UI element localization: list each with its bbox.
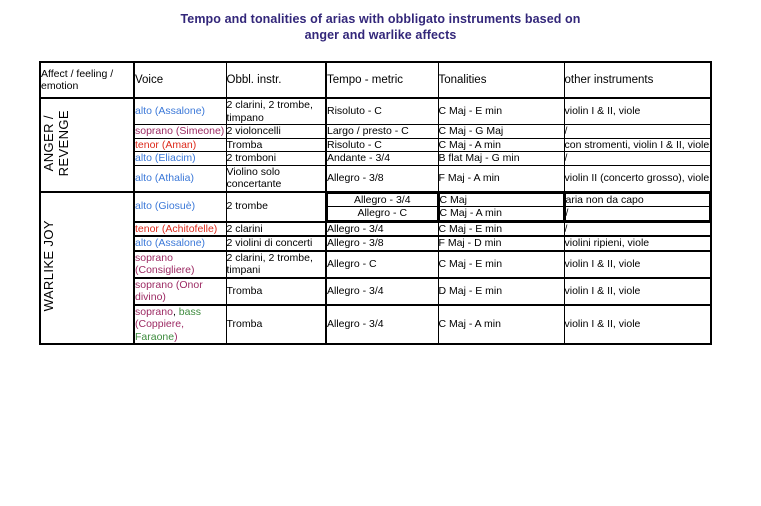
tonalities-cell: C Maj - E min — [438, 222, 564, 237]
voice-part-8: ) — [174, 331, 178, 343]
voice-part-1: tenor (Aman) — [135, 139, 196, 151]
voice-cell: alto (Eliacim) — [134, 152, 226, 166]
other-instruments-cell: / — [564, 125, 711, 139]
tempo-metric-cell: Allegro - 3/4Allegro - C — [326, 192, 438, 222]
other-instruments-cell: / — [564, 152, 711, 166]
other-instruments-cell: violin II (concerto grosso), viole — [564, 165, 711, 192]
obbl-instr-cell: 2 clarini, 2 trombe, timpano — [226, 98, 326, 125]
page-root: Tempo and tonalities of arias with obbli… — [0, 0, 761, 506]
tempo-tonalities-table-wrapper: Affect / feeling / emotion Voice Obbl. i… — [39, 61, 710, 345]
table-row: soprano (Simeone)2 violoncelliLargo / pr… — [40, 125, 711, 139]
obbl-instr-cell: 2 tromboni — [226, 152, 326, 166]
tempo-metric-cell-part-1: Allegro - 3/4 — [328, 193, 438, 207]
voice-cell: alto (Assalone) — [134, 98, 226, 125]
affect-group-text: WARLIKE JOY — [41, 220, 56, 311]
other-instruments-cell: violin I & II, viole — [564, 278, 711, 305]
table-row: tenor (Aman)TrombaRisoluto - CC Maj - A … — [40, 138, 711, 152]
tempo-metric-cell: Allegro - 3/4 — [326, 222, 438, 237]
tempo-metric-cell: Allegro - 3/8 — [326, 165, 438, 192]
page-title: Tempo and tonalities of arias with obbli… — [0, 11, 761, 43]
split-subrow: C Maj - A min — [439, 207, 563, 221]
voice-part-7: Faraone — [135, 331, 174, 343]
table-row: alto (Eliacim)2 tromboniAndante - 3/4B f… — [40, 152, 711, 166]
tonalities-cell: C Maj - G Maj — [438, 125, 564, 139]
tempo-metric-cell-part-2: Allegro - C — [328, 207, 438, 221]
voice-cell: soprano, bass (Coppiere, Faraone) — [134, 305, 226, 345]
other-instruments-cell: aria non da capo/ — [564, 192, 711, 222]
affect-group-text: ANGER / REVENGE — [41, 110, 71, 176]
split-subrow: Allegro - 3/4 — [328, 193, 438, 207]
tempo-metric-cell: Allegro - 3/8 — [326, 236, 438, 251]
split-subtable: C MajC Maj - A min — [439, 193, 564, 221]
voice-part-1: alto (Giosuè) — [135, 200, 195, 212]
other-instruments-cell-part-1: aria non da capo — [565, 193, 710, 207]
voice-part-1: soprano (Consigliere) — [135, 252, 195, 277]
obbl-instr-cell: Tromba — [226, 138, 326, 152]
other-instruments-cell: violin I & II, viole — [564, 251, 711, 278]
voice-part-1: soprano (Simeone) — [135, 125, 224, 137]
obbl-instr-cell: Tromba — [226, 278, 326, 305]
tempo-tonalities-table: Affect / feeling / emotion Voice Obbl. i… — [39, 61, 712, 345]
tempo-metric-cell: Risoluto - C — [326, 138, 438, 152]
other-instruments-cell: violini ripieni, viole — [564, 236, 711, 251]
table-header: Affect / feeling / emotion Voice Obbl. i… — [40, 62, 711, 98]
table-row: soprano (Onor divino)TrombaAllegro - 3/4… — [40, 278, 711, 305]
tempo-metric-cell: Allegro - C — [326, 251, 438, 278]
voice-cell: soprano (Consigliere) — [134, 251, 226, 278]
obbl-instr-cell: 2 clarini, 2 trombe, timpani — [226, 251, 326, 278]
voice-cell: soprano (Simeone) — [134, 125, 226, 139]
tonalities-cell: B flat Maj - G min — [438, 152, 564, 166]
tempo-metric-cell: Andante - 3/4 — [326, 152, 438, 166]
table-row: WARLIKE JOYalto (Giosuè)2 trombeAllegro … — [40, 192, 711, 222]
voice-part-6: , — [181, 318, 184, 330]
other-instruments-cell: con stromenti, violin I & II, viole — [564, 138, 711, 152]
column-header-voice: Voice — [134, 62, 226, 98]
obbl-instr-cell: 2 clarini — [226, 222, 326, 237]
split-subrow: / — [565, 207, 710, 221]
column-header-tonalities: Tonalities — [438, 62, 564, 98]
voice-part-1: alto (Assalone) — [135, 105, 205, 117]
tonalities-cell: D Maj - E min — [438, 278, 564, 305]
column-header-obbl-instr: Obbl. instr. — [226, 62, 326, 98]
split-subrow: aria non da capo — [565, 193, 710, 207]
obbl-instr-cell: Tromba — [226, 305, 326, 345]
other-instruments-cell: violin I & II, viole — [564, 98, 711, 125]
column-header-tempo-metric: Tempo - metric — [326, 62, 438, 98]
table-row: ANGER / REVENGEalto (Assalone)2 clarini,… — [40, 98, 711, 125]
table-row: alto (Assalone)2 violini di concertiAlle… — [40, 236, 711, 251]
tempo-metric-cell: Risoluto - C — [326, 98, 438, 125]
tempo-metric-cell: Largo / presto - C — [326, 125, 438, 139]
tempo-metric-cell: Allegro - 3/4 — [326, 278, 438, 305]
table-row: soprano, bass (Coppiere, Faraone)TrombaA… — [40, 305, 711, 345]
tonalities-cell-part-1: C Maj — [439, 193, 563, 207]
table-row: alto (Athalia)Violino solo concertanteAl… — [40, 165, 711, 192]
tonalities-cell: C Maj - A min — [438, 138, 564, 152]
split-subtable: Allegro - 3/4Allegro - C — [327, 193, 438, 221]
table-row: soprano (Consigliere)2 clarini, 2 trombe… — [40, 251, 711, 278]
voice-part-1: alto (Assalone) — [135, 237, 205, 249]
tonalities-cell: F Maj - D min — [438, 236, 564, 251]
other-instruments-cell-part-2: / — [565, 207, 710, 221]
affect-group-label-2: WARLIKE JOY — [40, 192, 134, 345]
header-row: Affect / feeling / emotion Voice Obbl. i… — [40, 62, 711, 98]
obbl-instr-cell: 2 trombe — [226, 192, 326, 222]
other-instruments-cell: violin I & II, viole — [564, 305, 711, 345]
split-subtable: aria non da capo/ — [565, 193, 711, 221]
voice-part-5: Coppiere — [139, 318, 182, 330]
table-body: ANGER / REVENGEalto (Assalone)2 clarini,… — [40, 98, 711, 344]
voice-part-1: tenor (Achitofelle) — [135, 223, 217, 235]
voice-cell: alto (Giosuè) — [134, 192, 226, 222]
voice-part-1: alto (Athalia) — [135, 172, 194, 184]
tonalities-cell: C MajC Maj - A min — [438, 192, 564, 222]
voice-cell: alto (Assalone) — [134, 236, 226, 251]
voice-cell: tenor (Achitofelle) — [134, 222, 226, 237]
voice-part-1: alto (Eliacim) — [135, 152, 196, 164]
obbl-instr-cell: 2 violini di concerti — [226, 236, 326, 251]
split-subrow: C Maj — [439, 193, 563, 207]
voice-part-1: soprano — [135, 306, 173, 318]
page-title-line-2: anger and warlike affects — [0, 27, 761, 43]
voice-cell: tenor (Aman) — [134, 138, 226, 152]
voice-cell: alto (Athalia) — [134, 165, 226, 192]
table-row: tenor (Achitofelle)2 clariniAllegro - 3/… — [40, 222, 711, 237]
tonalities-cell: C Maj - E min — [438, 98, 564, 125]
tonalities-cell: C Maj - E min — [438, 251, 564, 278]
obbl-instr-cell: Violino solo concertante — [226, 165, 326, 192]
tonalities-cell: F Maj - A min — [438, 165, 564, 192]
column-header-affect: Affect / feeling / emotion — [40, 62, 134, 98]
column-header-other-instruments: other instruments — [564, 62, 711, 98]
other-instruments-cell: / — [564, 222, 711, 237]
affect-group-label-1: ANGER / REVENGE — [40, 98, 134, 192]
tempo-metric-cell: Allegro - 3/4 — [326, 305, 438, 345]
voice-part-3: bass — [179, 306, 201, 318]
voice-part-1: soprano (Onor divino) — [135, 279, 203, 304]
tonalities-cell: C Maj - A min — [438, 305, 564, 345]
page-title-line-1: Tempo and tonalities of arias with obbli… — [0, 11, 761, 27]
tonalities-cell-part-2: C Maj - A min — [439, 207, 563, 221]
voice-cell: soprano (Onor divino) — [134, 278, 226, 305]
obbl-instr-cell: 2 violoncelli — [226, 125, 326, 139]
split-subrow: Allegro - C — [328, 207, 438, 221]
